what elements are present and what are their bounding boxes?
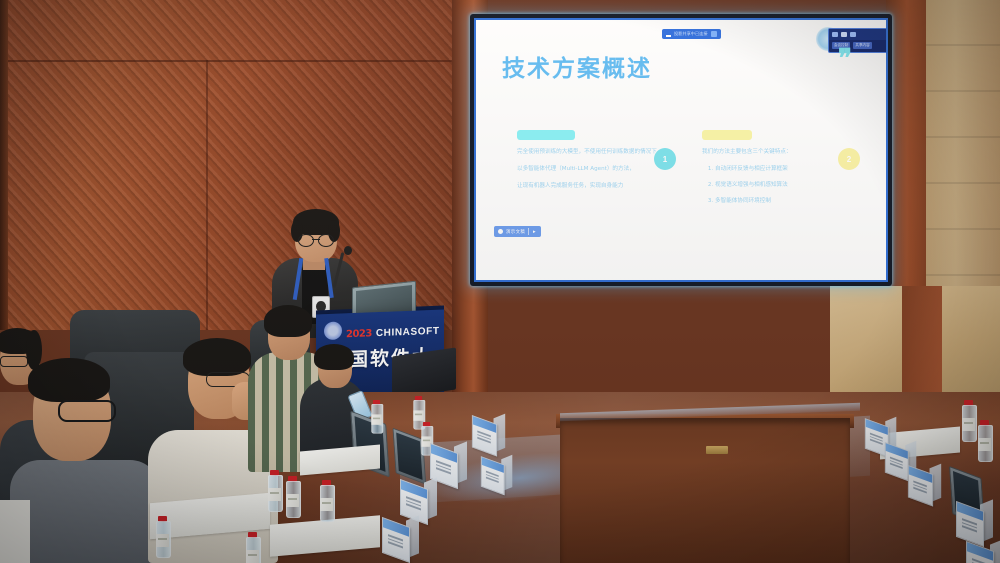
attendee-torso [10,460,160,563]
table-brass-plaque [706,446,728,454]
quote-mark-decoration: ❞ [838,52,852,68]
attendee-sleeve [0,500,30,563]
cast-icon[interactable] [711,31,717,37]
slide-paragraph: 以多智能体代理（Multi-LLM Agent）的方法， [517,164,667,175]
conference-logo-icon [324,321,342,340]
name-placard [481,455,513,492]
water-bottle[interactable] [286,476,299,516]
name-placard [382,516,420,560]
attendee-hair [314,344,354,370]
presenter-eyeglasses [297,234,335,245]
water-bottle[interactable] [320,480,333,520]
back-wall-wood-panel [0,0,470,330]
conference-name-en: CHINASOFT [376,326,440,339]
water-bottle[interactable] [156,516,169,556]
accent-bar-cyan [517,130,575,140]
name-placard [908,464,942,504]
lens-left [298,234,314,247]
podium-monitor-back [392,348,456,399]
conference-room-scene: 技术方案概述 完全使用预训练的大模型，不使用任何训练数据的情况下， 以多智能体代… [0,0,1000,563]
screen-bezel: 技术方案概述 完全使用预训练的大模型，不使用任何训练数据的情况下， 以多智能体代… [474,18,888,282]
glasses-bridge [312,239,320,240]
projection-screen[interactable]: 技术方案概述 完全使用预训练的大模型，不使用任何训练数据的情况下， 以多智能体代… [470,14,892,286]
attendee-hair [183,338,251,376]
attendee-hair [28,358,110,402]
name-placard [472,414,506,454]
list-item: 自动闭环反馈与相应计算框架 [715,164,852,175]
attendee-hair [264,305,312,337]
slide-feature-list: 自动闭环反馈与相应计算框架 视觉语义增强与相机感知算法 多智能体协同环境控制 [702,164,852,207]
name-placard [956,500,994,544]
window-titlebar[interactable] [829,29,888,40]
maximize-icon[interactable] [841,32,847,37]
slide-paragraph: 完全使用预训练的大模型，不使用任何训练数据的情况下， [517,147,667,158]
attendee-eyeglasses [0,356,28,367]
close-icon[interactable] [850,32,856,37]
list-item: 视觉语义增强与相机感知算法 [715,180,852,191]
slide-footer-chip[interactable]: 演示文稿 ► [494,226,541,237]
wall-seam-horizontal [0,60,470,62]
bottle-label [413,410,423,420]
bottle-label [156,534,169,547]
bottle-label [268,488,281,501]
water-bottle[interactable] [246,532,259,563]
bottle-label [978,438,991,451]
slide-title: 技术方案概述 [502,49,652,83]
floating-meeting-window[interactable]: 会议控制 共享内容 ≈ [828,28,888,53]
water-bottle[interactable] [962,400,975,440]
wall-stone-panel-right [926,0,1000,300]
water-bottle[interactable] [371,400,381,432]
presentation-slide: 技术方案概述 完全使用预训练的大模型，不使用任何训练数据的情况下， 以多智能体代… [476,20,886,280]
attendee-eyeglasses [58,400,116,422]
attendee-hair-side [26,330,42,370]
bottle-label [371,414,381,424]
wall-seam-vertical [206,60,208,330]
chip-label: 演示文稿 [506,229,525,235]
status-label: 投影共享中已连接 [674,31,708,37]
water-bottle[interactable] [978,420,991,460]
minimize-icon[interactable] [832,32,838,37]
accent-bar-yellow [702,130,752,140]
chip-separator [528,228,529,235]
numbered-badge-2: 2 [838,148,860,170]
list-item: 多智能体协同环境控制 [715,196,852,207]
water-bottle[interactable] [268,470,281,510]
laptop-screen [396,432,422,479]
toolbar-item[interactable]: 共享内容 [853,42,871,49]
slide-column-right: 我们的方法主要包含三个关键特点： 自动闭环反馈与相应计算框架 视觉语义增强与相机… [702,147,852,212]
screen-share-status-pill[interactable]: 投影共享中已连接 [662,29,721,39]
podium-banner-line1: 2023 CHINASOFT [346,326,440,341]
signal-icon [666,32,671,37]
numbered-badge-1: 1 [654,148,676,170]
chip-action-icon: ► [532,229,537,234]
name-placard [966,540,1000,563]
microphone-head-icon [344,246,352,255]
bottle-label [962,418,975,431]
bottle-label [246,550,259,563]
table-front-panel [560,418,850,563]
bottle-label [320,498,333,511]
wall-edge-left [0,0,8,330]
conference-year: 2023 [346,328,372,340]
slide-column-left: 完全使用预训练的大模型，不使用任何训练数据的情况下， 以多智能体代理（Multi… [517,147,667,198]
lens-right [318,234,334,247]
chip-dot-icon [498,229,503,234]
wall-wood-strip-right [902,286,942,406]
slide-paragraph: 我们的方法主要包含三个关键特点： [702,147,852,158]
slide-paragraph: 让现有机器人完成服务任务，实现自身能力 [517,181,667,192]
bottle-label [286,494,299,507]
